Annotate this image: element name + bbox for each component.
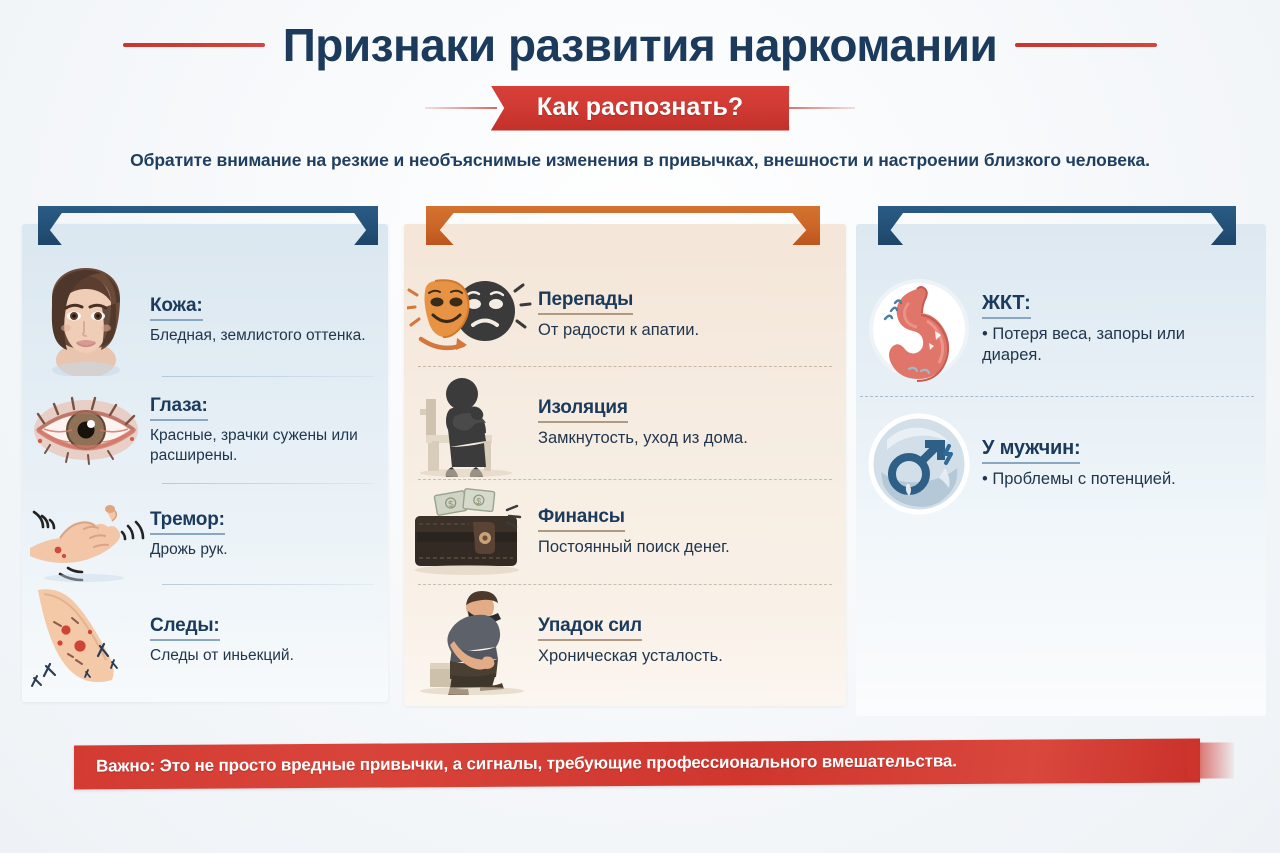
exhausted-man-icon [404, 585, 538, 697]
list-item-body: Бледная, землистого оттенка. [150, 326, 380, 346]
footer-brush-tail [1188, 742, 1234, 778]
red-eye-icon [22, 377, 150, 483]
ribbon-rule-left [425, 107, 497, 109]
list-item-heading: Финансы [538, 506, 625, 532]
list-item-text: Упадок сил Хроническая усталость. [538, 615, 846, 667]
list-item: ЖКТ: • Потеря веса, запоры или диарея. [856, 270, 1266, 388]
list-item: Следы: Следы от иньекций. [22, 585, 388, 695]
how-to-recognize-ribbon: Как распознать? [491, 86, 789, 131]
list-item-body: • Проблемы с потенцией. [982, 469, 1258, 490]
list-item-heading: У мужчин: [982, 437, 1080, 464]
list-item-heading: Тремор: [150, 509, 225, 535]
title-rule-left [123, 43, 265, 47]
rows-organism: ЖКТ: • Потеря веса, запоры или диарея. [856, 260, 1266, 716]
list-item: Изоляция Замкнутость, уход из дома. [404, 367, 846, 479]
list-item-text: Кожа: Бледная, землистого оттенка. [150, 295, 388, 346]
list-item-text: Глаза: Красные, зрачки сужены или расшир… [150, 395, 388, 466]
infographic-header: Признаки развития наркомании Как распозн… [0, 0, 1280, 171]
injection-marks-arm-icon [22, 585, 150, 695]
list-item: Перепады От радости к апатии. [404, 264, 846, 366]
row-separator [860, 396, 1254, 397]
list-item-heading: Перепады [538, 289, 633, 315]
list-item-text: ЖКТ: • Потеря веса, запоры или диарея. [982, 292, 1266, 366]
column-organism: Организм в целом [856, 206, 1266, 716]
list-item-heading: Изоляция [538, 397, 628, 423]
stomach-icon [856, 270, 982, 388]
ribbon-rule-right [783, 107, 855, 109]
list-item: Упадок сил Хроническая усталость. [404, 585, 846, 697]
list-item-body: Дрожь рук. [150, 540, 380, 560]
list-item-body: • Потеря веса, запоры или диарея. [982, 324, 1222, 366]
list-item-heading: Глаза: [150, 395, 208, 421]
list-item-body: Замкнутость, уход из дома. [538, 428, 838, 449]
list-item: Кожа: Бледная, землистого оттенка. [22, 264, 388, 376]
shaking-hand-icon [22, 484, 150, 584]
list-item: $ $ [404, 480, 846, 584]
list-item-text: Тремор: Дрожь рук. [150, 509, 388, 560]
columns-area: Физическое состояние [0, 206, 1280, 716]
title-row: Признаки развития наркомании [0, 14, 1280, 76]
woman-face-icon [22, 264, 150, 376]
column-behavior: Поведение и Настроение [404, 206, 846, 706]
list-item-text: Следы: Следы от иньекций. [150, 615, 388, 666]
list-item-heading: Кожа: [150, 295, 203, 321]
list-item-text: Перепады От радости к апатии. [538, 289, 846, 341]
list-item: У мужчин: • Проблемы с потенцией. [856, 405, 1266, 523]
wallet-money-icon: $ $ [404, 480, 538, 584]
theatre-masks-icon [404, 264, 538, 366]
page-subtitle: Обратите внимание на резкие и необъясним… [0, 150, 1280, 171]
title-rule-right [1015, 43, 1157, 47]
page-title: Признаки развития наркомании [283, 18, 998, 72]
sitting-person-icon [404, 367, 538, 479]
rows-behavior: Перепады От радости к апатии. [404, 254, 846, 706]
list-item-body: Постоянный поиск денег. [538, 537, 838, 558]
male-symbol-icon [856, 405, 982, 523]
svg-text:$: $ [476, 496, 482, 506]
list-item-body: Следы от иньекций. [150, 646, 380, 666]
list-item-text: Изоляция Замкнутость, уход из дома. [538, 397, 846, 449]
list-item-heading: Следы: [150, 615, 220, 641]
list-item: Тремор: Дрожь рук. [22, 484, 388, 584]
subtitle-ribbon-row: Как распознать? [0, 86, 1280, 130]
rows-physical: Кожа: Бледная, землистого оттенка. [22, 254, 388, 702]
list-item-heading: ЖКТ: [982, 292, 1031, 319]
column-physical: Физическое состояние [22, 206, 388, 702]
footer-banner: Важно: Это не просто вредные привычки, а… [0, 740, 1280, 796]
footer-text: Важно: Это не просто вредные привычки, а… [96, 739, 957, 788]
list-item-text: У мужчин: • Проблемы с потенцией. [982, 437, 1266, 490]
list-item-body: Хроническая усталость. [538, 646, 838, 667]
list-item-heading: Упадок сил [538, 615, 642, 641]
list-item: Глаза: Красные, зрачки сужены или расшир… [22, 377, 388, 483]
list-item-body: От радости к апатии. [538, 320, 838, 341]
list-item-text: Финансы Постоянный поиск денег. [538, 506, 846, 558]
list-item-body: Красные, зрачки сужены или расширены. [150, 426, 380, 466]
